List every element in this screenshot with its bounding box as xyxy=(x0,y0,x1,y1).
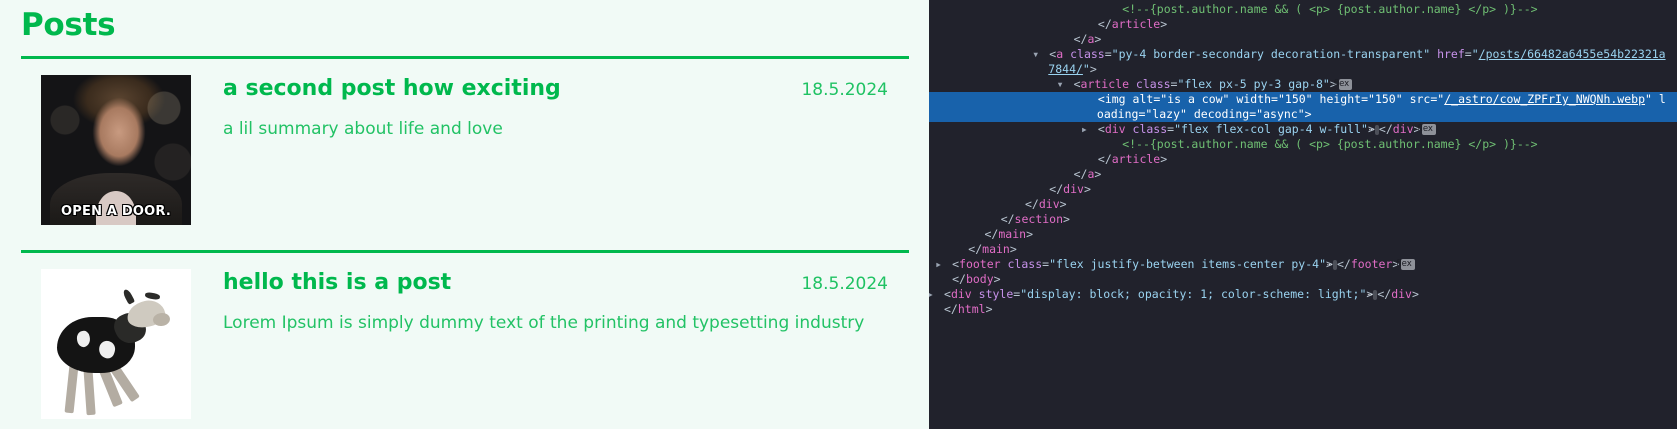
code-punctuation: > xyxy=(1090,62,1097,76)
devtools-tree-row[interactable]: </article> xyxy=(929,152,1677,167)
page-title: Posts xyxy=(21,5,908,47)
devtools-tree-row[interactable]: </html> xyxy=(929,302,1677,317)
post-article-1: hello this is a post 18.5.2024 Lorem Ips… xyxy=(21,269,908,419)
tag-name: div xyxy=(1063,182,1084,196)
attribute-value: "flex flex-col gap-4 w-full" xyxy=(1174,122,1368,136)
devtools-tree-row[interactable]: </div> xyxy=(929,197,1677,212)
cow-leg-shape xyxy=(65,365,79,414)
code-punctuation: > xyxy=(1412,287,1419,301)
post-date-1: 18.5.2024 xyxy=(801,274,888,294)
devtools-tree-row[interactable]: <img alt="is a cow" width="150" height="… xyxy=(929,92,1677,122)
code-punctuation: </ xyxy=(1098,17,1112,31)
post-summary-0: a lil summary about life and love xyxy=(223,118,888,142)
post-text-1: hello this is a post 18.5.2024 Lorem Ips… xyxy=(223,269,888,419)
flex-badge[interactable]: flex xyxy=(1401,259,1414,270)
code-punctuation: < xyxy=(952,257,959,271)
code-punctuation: </ xyxy=(1379,122,1393,136)
post-title-0: a second post how exciting xyxy=(223,75,561,103)
devtools-tree-row[interactable]: </body> xyxy=(929,272,1677,287)
code-punctuation: > xyxy=(1094,32,1101,46)
code-punctuation: > xyxy=(1094,167,1101,181)
post-summary-1: Lorem Ipsum is simply dummy text of the … xyxy=(223,312,888,336)
cow-leg-shape xyxy=(83,367,95,416)
post-header-1: hello this is a post 18.5.2024 xyxy=(223,269,888,297)
chevron-right-icon[interactable]: ▸ xyxy=(943,257,952,272)
code-punctuation: </ xyxy=(1001,212,1015,226)
devtools-tree-row[interactable]: <!--{post.author.name && ( <p> {post.aut… xyxy=(929,137,1677,152)
tag-name: main xyxy=(982,242,1010,256)
code-punctuation: > xyxy=(1160,17,1167,31)
attribute-name: alt xyxy=(1126,92,1154,106)
code-punctuation: = xyxy=(1271,92,1278,106)
tag-name: body xyxy=(966,272,994,286)
code-punctuation: = xyxy=(1361,92,1368,106)
chevron-right-icon[interactable]: ▸ xyxy=(935,287,944,302)
code-punctuation: = xyxy=(1105,47,1112,61)
tag-name: div xyxy=(1105,122,1126,136)
devtools-tree-row[interactable]: </a> xyxy=(929,32,1677,47)
twisty-spacer xyxy=(1089,152,1098,167)
code-comment: <!--{post.author.name && ( <p> {post.aut… xyxy=(1122,2,1537,16)
devtools-tree-row[interactable]: </main> xyxy=(929,227,1677,242)
attribute-name: width xyxy=(1230,92,1272,106)
attribute-name: height xyxy=(1313,92,1361,106)
page-content-pane: Posts OPEN A DOOR. a second post how exc… xyxy=(0,0,929,429)
devtools-tree-row[interactable]: ▾<a class="py-4 border-secondary decorat… xyxy=(929,47,1677,77)
tag-name: footer xyxy=(1351,257,1393,271)
twisty-spacer xyxy=(1040,182,1049,197)
devtools-tree-row[interactable]: </div> xyxy=(929,182,1677,197)
twisty-spacer xyxy=(1016,197,1025,212)
post-title-1: hello this is a post xyxy=(223,269,451,297)
devtools-tree-row[interactable]: ▸<div class="flex flex-col gap-4 w-full"… xyxy=(929,122,1677,137)
attribute-value: "async" xyxy=(1256,107,1304,121)
code-punctuation: = xyxy=(1465,47,1472,61)
code-punctuation: > xyxy=(1305,107,1312,121)
post-date-0: 18.5.2024 xyxy=(801,80,888,100)
flex-badge[interactable]: flex xyxy=(1422,124,1435,135)
cow-snout-shape xyxy=(152,312,171,327)
devtools-tree-row[interactable]: <!--{post.author.name && ( <p> {post.aut… xyxy=(929,2,1677,17)
code-punctuation: > xyxy=(994,272,1001,286)
twisty-spacer xyxy=(1089,92,1098,107)
tag-name: div xyxy=(1391,287,1412,301)
code-punctuation: < xyxy=(944,287,951,301)
code-punctuation: > xyxy=(1063,212,1070,226)
code-punctuation: > xyxy=(1026,227,1033,241)
devtools-tree-row[interactable]: ▾<article class="flex px-5 py-3 gap-8">f… xyxy=(929,77,1677,92)
code-punctuation: > xyxy=(986,302,993,316)
attribute-value: "display: block; opacity: 1; color-schem… xyxy=(1020,287,1366,301)
twisty-spacer xyxy=(1089,17,1098,32)
code-punctuation: < xyxy=(1098,92,1105,106)
tag-name: footer xyxy=(959,257,1001,271)
devtools-tree-row[interactable]: </section> xyxy=(929,212,1677,227)
code-punctuation: </ xyxy=(1098,152,1112,166)
code-punctuation: > xyxy=(1084,182,1091,196)
tag-name: article xyxy=(1081,77,1129,91)
tag-name: article xyxy=(1112,17,1160,31)
devtools-tree-row[interactable]: </article> xyxy=(929,17,1677,32)
attribute-name: href xyxy=(1430,47,1465,61)
twisty-spacer xyxy=(935,302,944,317)
meme-caption-text: OPEN A DOOR. xyxy=(41,204,191,219)
post-link-0[interactable]: OPEN A DOOR. a second post how exciting … xyxy=(21,59,908,241)
attribute-name: class xyxy=(1001,257,1043,271)
attribute-name: src xyxy=(1403,92,1431,106)
attribute-value: "150" xyxy=(1368,92,1403,106)
devtools-tree-row[interactable]: ▸<footer class="flex justify-between ite… xyxy=(929,257,1677,272)
code-punctuation: </ xyxy=(1074,32,1088,46)
chevron-down-icon[interactable]: ▾ xyxy=(1040,47,1049,62)
attribute-value: "flex justify-between items-center py-4" xyxy=(1049,257,1326,271)
devtools-elements-tree[interactable]: <!--{post.author.name && ( <p> {post.aut… xyxy=(929,0,1677,429)
devtools-tree-row[interactable]: ▸<div style="display: block; opacity: 1;… xyxy=(929,287,1677,302)
code-punctuation: </ xyxy=(1074,167,1088,181)
code-punctuation: > xyxy=(1010,242,1017,256)
code-punctuation: < xyxy=(1074,77,1081,91)
post-text-0: a second post how exciting 18.5.2024 a l… xyxy=(223,75,888,225)
attribute-name: decoding xyxy=(1187,107,1249,121)
twisty-spacer xyxy=(992,212,1001,227)
attribute-value: "flex px-5 py-3 gap-8" xyxy=(1177,77,1329,91)
tag-name: div xyxy=(951,287,972,301)
chevron-down-icon[interactable]: ▾ xyxy=(1065,77,1074,92)
tag-name: section xyxy=(1015,212,1063,226)
cow-horn-shape xyxy=(122,288,135,305)
attribute-value: "py-4 border-secondary decoration-transp… xyxy=(1112,47,1431,61)
post-thumbnail-0: OPEN A DOOR. xyxy=(41,75,191,225)
tag-name: img xyxy=(1105,92,1126,106)
tag-name: div xyxy=(1039,197,1060,211)
devtools-tree-row[interactable]: </a> xyxy=(929,167,1677,182)
twisty-spacer xyxy=(1113,137,1122,152)
post-header-0: a second post how exciting 18.5.2024 xyxy=(223,75,888,103)
code-punctuation: </ xyxy=(944,302,958,316)
cow-horn-shape xyxy=(145,292,161,301)
code-punctuation: < xyxy=(1098,122,1105,136)
attribute-value: "150" xyxy=(1278,92,1313,106)
attribute-value: "lazy" xyxy=(1145,107,1187,121)
code-punctuation: </ xyxy=(1025,197,1039,211)
code-punctuation: </ xyxy=(985,227,999,241)
tag-name: div xyxy=(1393,122,1414,136)
code-comment: <!--{post.author.name && ( <p> {post.aut… xyxy=(1122,137,1537,151)
post-article-0: OPEN A DOOR. a second post how exciting … xyxy=(21,75,908,225)
code-punctuation: > xyxy=(1160,152,1167,166)
code-punctuation: </ xyxy=(1377,287,1391,301)
post-link-1[interactable]: hello this is a post 18.5.2024 Lorem Ips… xyxy=(21,253,908,429)
tag-name: main xyxy=(998,227,1026,241)
tag-name: html xyxy=(958,302,986,316)
flex-badge[interactable]: flex xyxy=(1339,79,1352,90)
attribute-value: "is a cow" xyxy=(1160,92,1229,106)
code-punctuation: </ xyxy=(968,242,982,256)
attribute-name: class xyxy=(1126,122,1168,136)
twisty-spacer xyxy=(1065,32,1074,47)
twisty-spacer xyxy=(943,272,952,287)
attribute-url-value[interactable]: "/_astro/cow_ZPFrIy_NWQNh.webp" xyxy=(1437,92,1652,106)
twisty-spacer xyxy=(976,227,985,242)
twisty-spacer xyxy=(959,242,968,257)
twisty-spacer xyxy=(1113,2,1122,17)
devtools-tree-row[interactable]: </main> xyxy=(929,242,1677,257)
attribute-name: style xyxy=(972,287,1014,301)
twisty-spacer xyxy=(1065,167,1074,182)
code-punctuation: </ xyxy=(952,272,966,286)
attribute-name: class xyxy=(1063,47,1105,61)
code-punctuation: </ xyxy=(1337,257,1351,271)
chevron-right-icon[interactable]: ▸ xyxy=(1089,122,1098,137)
post-list: OPEN A DOOR. a second post how exciting … xyxy=(21,59,908,429)
code-punctuation: > xyxy=(1060,197,1067,211)
code-punctuation: </ xyxy=(1049,182,1063,196)
post-thumbnail-1 xyxy=(41,269,191,419)
tag-name: article xyxy=(1112,152,1160,166)
attribute-name: class xyxy=(1129,77,1171,91)
